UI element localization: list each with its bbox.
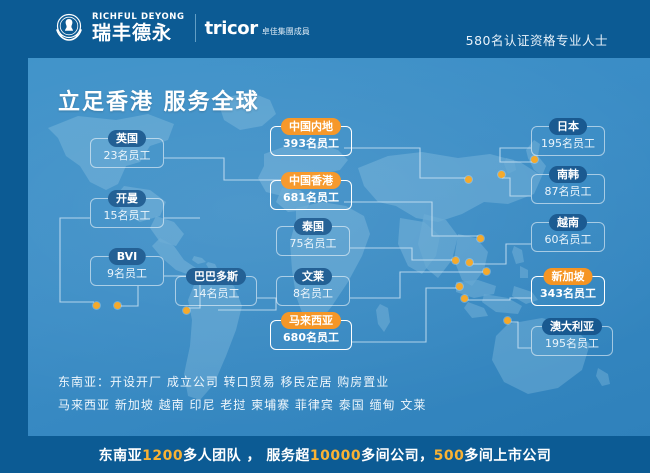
location-employee-count: 87名员工 (534, 185, 602, 199)
map-location-dot (504, 317, 511, 324)
map-location-dot (531, 156, 538, 163)
location-box-thailand[interactable]: 75名员工泰国 (276, 226, 350, 256)
footer-highlight-3: 500 (434, 448, 465, 464)
location-name-tag: 中国内地 (281, 118, 341, 135)
location-employee-count: 75名员工 (279, 237, 347, 251)
location-employee-count: 195名员工 (534, 137, 602, 151)
location-box-barbados[interactable]: 14名员工巴巴多斯 (175, 276, 257, 306)
location-box-korea[interactable]: 87名员工南韩 (531, 174, 605, 204)
location-name-tag: 开曼 (108, 190, 146, 207)
location-employee-count: 195名员工 (534, 337, 610, 351)
location-name-tag: 马来西亚 (281, 312, 341, 329)
location-name-tag: 英国 (108, 130, 146, 147)
location-name-tag: 南韩 (549, 166, 587, 183)
location-box-cayman[interactable]: 15名员工开曼 (90, 198, 164, 228)
header-bar: RICHFUL DEYONG 瑞丰德永 tricor 卓佳集團成員 580名认证… (0, 0, 650, 55)
location-name-tag: 澳大利亚 (542, 318, 602, 335)
service-row-2: 马来西亚 新加坡 越南 印尼 老挝 柬埔寨 菲律宾 泰国 缅甸 文莱 (58, 394, 426, 417)
map-location-dot (498, 171, 505, 178)
map-location-dot (466, 259, 473, 266)
map-location-dot (477, 235, 484, 242)
location-name-tag: 日本 (549, 118, 587, 135)
location-box-mainland[interactable]: 393名员工中国内地 (270, 126, 352, 156)
map-location-dot (456, 283, 463, 290)
poster-root: RICHFUL DEYONG 瑞丰德永 tricor 卓佳集團成員 580名认证… (0, 0, 650, 473)
location-box-singapore[interactable]: 343名员工新加坡 (531, 276, 605, 306)
location-box-japan[interactable]: 195名员工日本 (531, 126, 605, 156)
location-name-tag: 泰国 (294, 218, 332, 235)
location-employee-count: 8名员工 (279, 287, 347, 301)
map-location-dot (461, 295, 468, 302)
brand-logo: RICHFUL DEYONG 瑞丰德永 tricor 卓佳集團成員 (52, 12, 310, 44)
location-employee-count: 680名员工 (273, 331, 349, 345)
location-box-malaysia[interactable]: 680名员工马来西亚 (270, 320, 352, 350)
footer-part-1: 东南亚 (99, 448, 143, 464)
logo-english: RICHFUL DEYONG (92, 12, 185, 22)
location-name-tag: 文莱 (294, 268, 332, 285)
map-location-dot (465, 176, 472, 183)
location-name-tag: 越南 (549, 214, 587, 231)
tricor-subtitle: 卓佳集團成員 (262, 25, 310, 38)
location-employee-count: 343名员工 (534, 287, 602, 301)
footer-banner: 东南亚1200多人团队 ， 服务超10000多间公司，500多间上市公司 (0, 436, 650, 473)
footer-part-4: 多间上市公司 (464, 448, 551, 464)
location-box-brunei[interactable]: 8名员工文莱 (276, 276, 350, 306)
logo-chinese: 瑞丰德永 (92, 23, 185, 44)
location-employee-count: 14名员工 (178, 287, 254, 301)
tricor-wordmark: tricor (205, 19, 258, 38)
location-box-hongkong[interactable]: 681名员工中国香港 (270, 180, 352, 210)
logo-divider (195, 14, 196, 42)
header-tagline: 580名认证资格专业人士 (466, 30, 608, 49)
footer-highlight-2: 10000 (310, 448, 361, 464)
location-employee-count: 9名员工 (93, 267, 161, 281)
service-lists: 东南亚：开设开厂 成立公司 转口贸易 移民定居 购房置业 马来西亚 新加坡 越南… (58, 371, 426, 417)
location-box-uk[interactable]: 23名员工英国 (90, 138, 164, 168)
content-panel: 立足香港 服务全球 23名员工英国15名员工开曼9名员工BVI14名员工巴巴多斯… (28, 58, 650, 436)
map-location-dot (114, 302, 121, 309)
page-title: 立足香港 服务全球 (58, 84, 260, 116)
location-name-tag: 新加坡 (544, 268, 593, 285)
map-location-dot (183, 307, 190, 314)
location-employee-count: 23名员工 (93, 149, 161, 163)
location-name-tag: 中国香港 (281, 172, 341, 189)
service-row-1: 东南亚：开设开厂 成立公司 转口贸易 移民定居 购房置业 (58, 371, 426, 394)
shield-crest-icon (52, 12, 86, 44)
location-box-vietnam[interactable]: 60名员工越南 (531, 222, 605, 252)
map-location-dot (93, 302, 100, 309)
location-employee-count: 681名员工 (273, 191, 349, 205)
footer-part-2: 多人团队 ， 服务超 (183, 448, 310, 464)
footer-highlight-1: 1200 (142, 448, 183, 464)
location-box-australia[interactable]: 195名员工澳大利亚 (531, 326, 613, 356)
location-employee-count: 15名员工 (93, 209, 161, 223)
location-box-bvi[interactable]: 9名员工BVI (90, 256, 164, 286)
footer-part-3: 多间公司， (361, 448, 434, 464)
location-employee-count: 60名员工 (534, 233, 602, 247)
location-name-tag: BVI (109, 248, 146, 265)
map-location-dot (452, 257, 459, 264)
location-employee-count: 393名员工 (273, 137, 349, 151)
footer-text: 东南亚1200多人团队 ， 服务超10000多间公司，500多间上市公司 (99, 445, 552, 465)
location-name-tag: 巴巴多斯 (186, 268, 246, 285)
map-location-dot (483, 268, 490, 275)
